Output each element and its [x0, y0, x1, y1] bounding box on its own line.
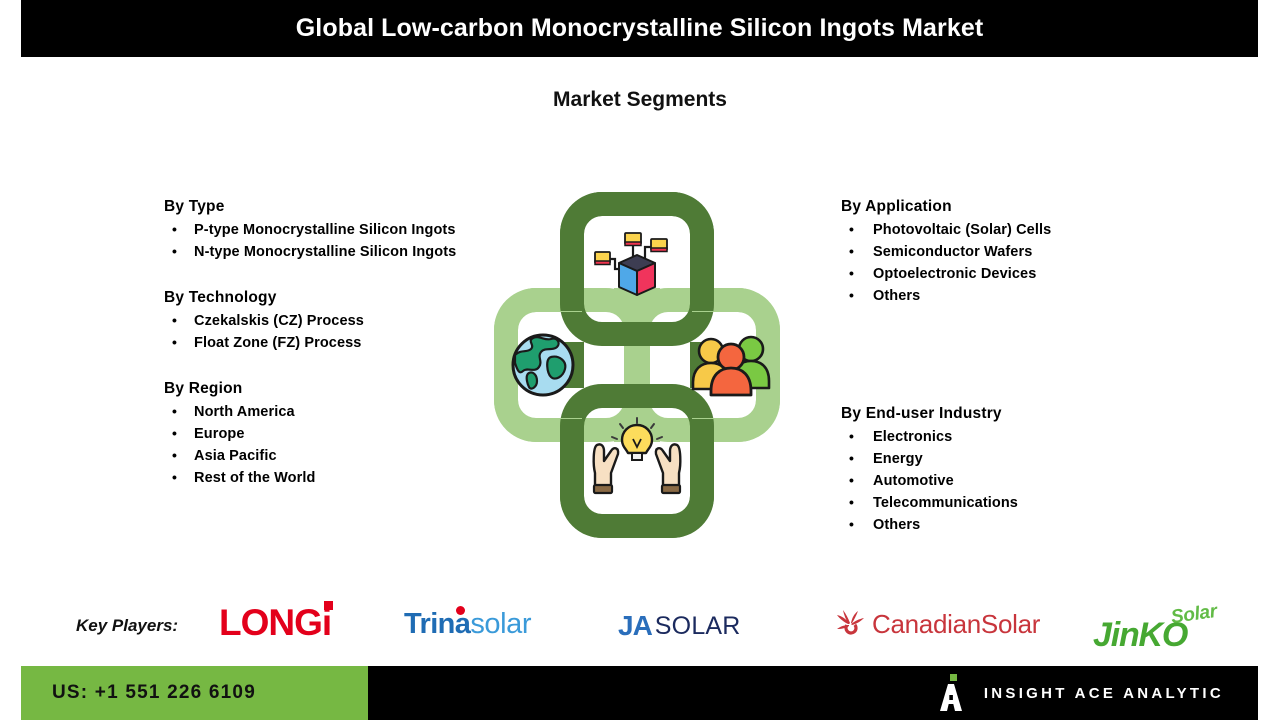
list-item-label: Optoelectronic Devices	[873, 266, 1036, 282]
insight-ace-logo-icon	[934, 673, 968, 713]
segment-by-type: By Type •P-type Monocrystalline Silicon …	[164, 198, 464, 263]
footer-brand-block: INSIGHT ACE ANALYTIC	[934, 666, 1224, 720]
segment-heading: By Region	[164, 380, 464, 398]
node-box	[651, 239, 667, 252]
globe-icon	[513, 335, 573, 395]
logo-longi-suffix: i	[322, 604, 332, 641]
list-item-label: Others	[873, 288, 920, 304]
list-item: •Electronics	[841, 426, 1171, 448]
list-item-label: Telecommunications	[873, 495, 1018, 511]
list-item-label: Semiconductor Wafers	[873, 244, 1032, 260]
interlocking-squares-diagram	[462, 190, 812, 540]
list-item: •Photovoltaic (Solar) Cells	[841, 219, 1171, 241]
sunburst-icon	[833, 610, 867, 638]
list-item-label: Automotive	[873, 473, 954, 489]
list-item-label: Float Zone (FZ) Process	[194, 335, 361, 351]
bullet-icon: •	[172, 241, 177, 262]
key-players-label: Key Players:	[76, 616, 178, 636]
longi-dot-mark	[324, 601, 333, 610]
list-item: •Telecommunications	[841, 492, 1171, 514]
segment-list: •P-type Monocrystalline Silicon Ingots •…	[164, 219, 464, 263]
bullet-icon: •	[172, 445, 177, 466]
list-item-label: Electronics	[873, 429, 952, 445]
segments-right-column: By Application •Photovoltaic (Solar) Cel…	[841, 198, 1171, 554]
list-item: •Others	[841, 285, 1171, 307]
list-item-label: North America	[194, 404, 295, 420]
bullet-icon: •	[849, 241, 854, 262]
list-item: •Optoelectronic Devices	[841, 263, 1171, 285]
list-item-label: Europe	[194, 426, 245, 442]
bullet-icon: •	[849, 263, 854, 284]
logo-longi-text: LONG	[219, 604, 322, 641]
logo-jinko-suffix: Solar	[1170, 601, 1219, 629]
segment-list: •Czekalskis (CZ) Process •Float Zone (FZ…	[164, 310, 464, 354]
list-item-label: P-type Monocrystalline Silicon Ingots	[194, 222, 456, 238]
segment-heading: By Application	[841, 198, 1171, 216]
segment-by-application: By Application •Photovoltaic (Solar) Cel…	[841, 198, 1171, 307]
bullet-icon: •	[172, 332, 177, 353]
list-item-label: Czekalskis (CZ) Process	[194, 313, 364, 329]
list-item: •P-type Monocrystalline Silicon Ingots	[164, 219, 464, 241]
list-item-label: Others	[873, 517, 920, 533]
bullet-icon: •	[849, 470, 854, 491]
bullet-icon: •	[172, 219, 177, 240]
bullet-icon: •	[172, 401, 177, 422]
bullet-icon: •	[172, 467, 177, 488]
logo-trina-suffix: solar	[470, 610, 531, 639]
bullet-icon: •	[849, 492, 854, 513]
bullet-icon: •	[849, 285, 854, 306]
list-item-label: N-type Monocrystalline Silicon Ingots	[194, 244, 456, 260]
segments-left-column: By Type •P-type Monocrystalline Silicon …	[164, 198, 464, 507]
list-item: •Others	[841, 514, 1171, 536]
segment-list: •Photovoltaic (Solar) Cells •Semiconduct…	[841, 219, 1171, 307]
header-bar: Global Low-carbon Monocrystalline Silico…	[21, 0, 1258, 57]
segment-by-technology: By Technology •Czekalskis (CZ) Process •…	[164, 289, 464, 354]
footer-brand-name: INSIGHT ACE ANALYTIC	[984, 685, 1224, 702]
logo-canadiansolar: CanadianSolar	[833, 610, 1040, 638]
list-item: •Automotive	[841, 470, 1171, 492]
footer-phone-block[interactable]: US: +1 551 226 6109	[21, 666, 368, 720]
segment-list: •Electronics •Energy •Automotive •Teleco…	[841, 426, 1171, 536]
list-item: •Asia Pacific	[164, 445, 464, 467]
segment-by-region: By Region •North America •Europe •Asia P…	[164, 380, 464, 489]
footer-bar: US: +1 551 226 6109 INSIGHT ACE ANALYTIC	[21, 666, 1258, 720]
list-item: •Float Zone (FZ) Process	[164, 332, 464, 354]
bullet-icon: •	[172, 310, 177, 331]
logo-ja-mark: JA	[618, 612, 652, 640]
page-title: Global Low-carbon Monocrystalline Silico…	[296, 14, 984, 43]
footer-phone-number: US: +1 551 226 6109	[52, 682, 256, 704]
list-item-label: Photovoltaic (Solar) Cells	[873, 222, 1051, 238]
people-group-icon	[693, 337, 769, 395]
logo-jasolar: JA SOLAR	[618, 612, 741, 640]
list-item: •Energy	[841, 448, 1171, 470]
segment-list: •North America •Europe •Asia Pacific •Re…	[164, 401, 464, 489]
list-item: •Semiconductor Wafers	[841, 241, 1171, 263]
bullet-icon: •	[849, 448, 854, 469]
list-item: •Rest of the World	[164, 467, 464, 489]
bullet-icon: •	[849, 219, 854, 240]
bullet-icon: •	[849, 426, 854, 447]
list-item-label: Rest of the World	[194, 470, 315, 486]
list-item: •N-type Monocrystalline Silicon Ingots	[164, 241, 464, 263]
segment-heading: By End-user Industry	[841, 405, 1171, 423]
node-box	[625, 233, 641, 246]
key-players-row: Key Players: LONG i Trina solar JA SOLAR	[0, 596, 1280, 658]
trina-dot-mark	[456, 606, 465, 615]
list-item-label: Asia Pacific	[194, 448, 277, 464]
segment-heading: By Type	[164, 198, 464, 216]
node-box	[595, 252, 610, 265]
list-item-label: Energy	[873, 451, 923, 467]
cube	[619, 255, 655, 295]
bullet-icon: •	[172, 423, 177, 444]
segment-by-end-user-industry: By End-user Industry •Electronics •Energ…	[841, 405, 1171, 536]
list-item: •Czekalskis (CZ) Process	[164, 310, 464, 332]
list-item: •Europe	[164, 423, 464, 445]
logo-trinasolar: Trina solar	[404, 610, 531, 639]
logo-longi: LONG i	[219, 604, 332, 641]
logo-ja-suffix: SOLAR	[655, 614, 741, 639]
segment-heading: By Technology	[164, 289, 464, 307]
logo-trina-main: Trina	[404, 610, 470, 639]
column-spacer	[841, 325, 1171, 405]
list-item: •North America	[164, 401, 464, 423]
section-subtitle: Market Segments	[0, 88, 1280, 112]
logo-canadian-text: CanadianSolar	[872, 611, 1040, 637]
bullet-icon: •	[849, 514, 854, 535]
logo-jinkosolar: Solar JinKO	[1093, 600, 1187, 652]
